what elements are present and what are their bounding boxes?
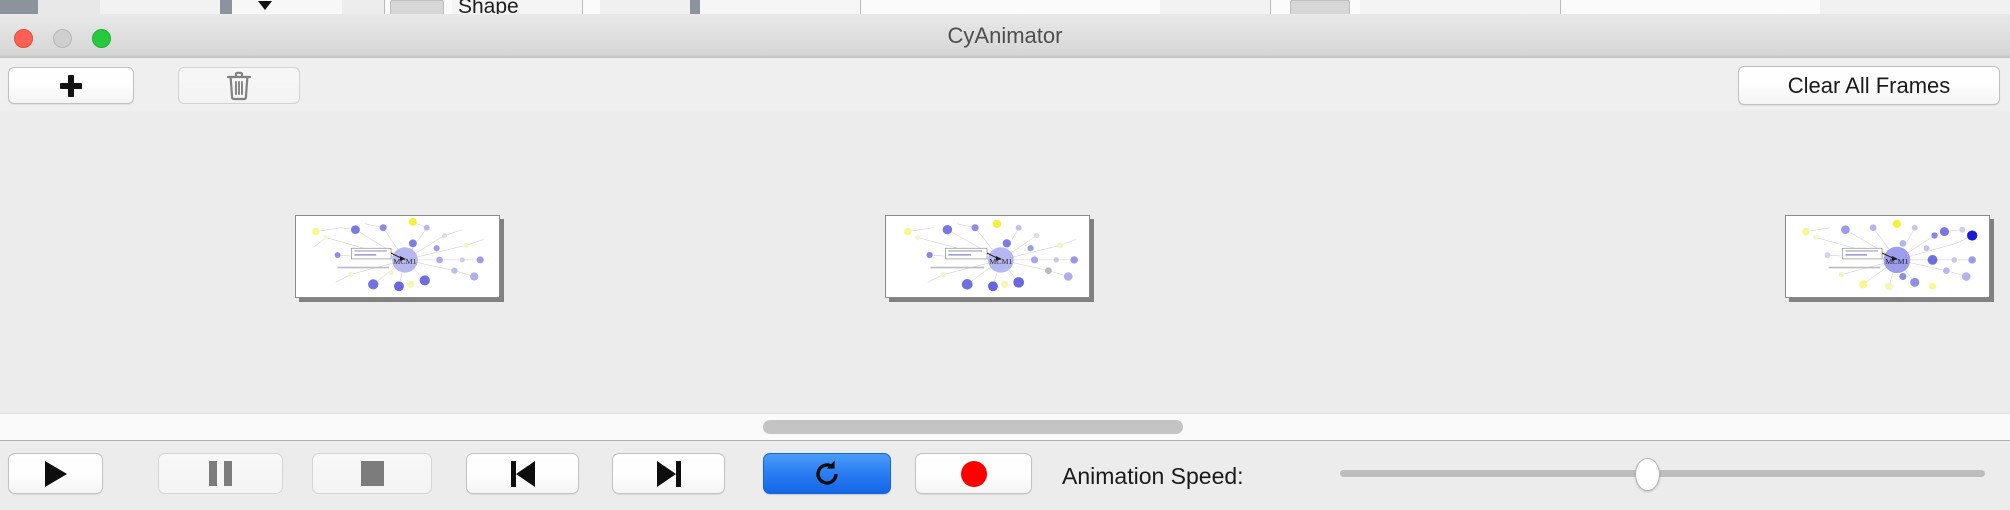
play-button[interactable] <box>8 453 103 494</box>
timeline-frame-thumbnail[interactable]: MCM1 <box>885 215 1090 298</box>
timeline-frame-thumbnail[interactable]: MCM1 <box>1785 215 1990 298</box>
record-icon <box>961 461 987 487</box>
plus-icon <box>60 75 82 97</box>
delete-frame-button[interactable] <box>178 67 300 104</box>
title-bar: CyAnimator <box>0 14 2010 59</box>
stop-icon <box>361 461 384 486</box>
skip-end-button[interactable] <box>612 453 725 494</box>
pause-button[interactable] <box>158 453 283 494</box>
toolbar: Clear All Frames <box>0 58 2010 112</box>
scrollbar-thumb[interactable] <box>763 420 1183 434</box>
network-graph-thumbnail-a: MCM1 <box>296 216 499 297</box>
svg-text:MCM1: MCM1 <box>1885 257 1908 266</box>
window-title: CyAnimator <box>0 14 2010 58</box>
animation-speed-label: Animation Speed: <box>1062 463 1244 490</box>
network-graph-thumbnail-c: MCM1 <box>1786 216 1989 297</box>
slider-thumb[interactable] <box>1635 458 1660 491</box>
svg-text:MCM1: MCM1 <box>393 257 416 266</box>
pause-icon <box>209 461 232 486</box>
skip-start-button[interactable] <box>466 453 579 494</box>
skip-backward-icon <box>511 461 535 487</box>
background-window-label: Shape <box>458 0 519 14</box>
svg-text:MCM1: MCM1 <box>989 257 1012 266</box>
animation-speed-slider[interactable] <box>1340 453 1985 494</box>
add-frame-button[interactable] <box>8 67 134 104</box>
loop-refresh-icon <box>812 459 842 489</box>
cyanimator-window: Shape CyAnimator Clear All Frames <box>0 0 2010 510</box>
network-graph-thumbnail-b: MCM1 <box>886 216 1089 297</box>
playback-bar: Animation Speed: <box>0 440 2010 510</box>
background-window-strip: Shape <box>0 0 2010 14</box>
clear-all-frames-button[interactable]: Clear All Frames <box>1738 66 2000 105</box>
stop-button[interactable] <box>312 453 432 494</box>
timeline-scrollbar[interactable] <box>0 413 2010 441</box>
skip-forward-icon <box>657 461 681 487</box>
timeline-frame-thumbnail[interactable]: MCM1 <box>295 215 500 298</box>
loop-button[interactable] <box>763 453 891 494</box>
record-button[interactable] <box>915 453 1032 494</box>
slider-track[interactable] <box>1340 470 1985 477</box>
trash-icon <box>226 71 252 101</box>
play-icon <box>45 461 67 487</box>
timeline-panel[interactable]: MCM1 <box>0 111 2010 413</box>
